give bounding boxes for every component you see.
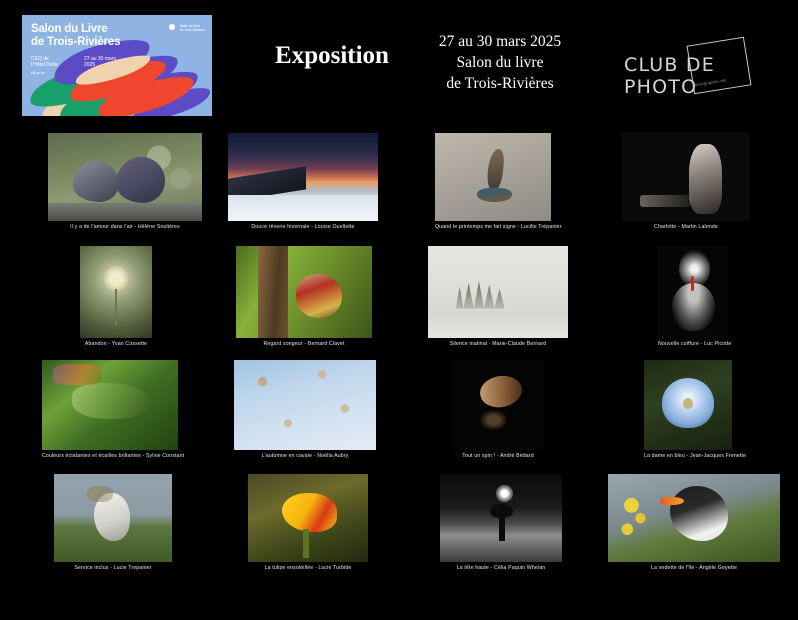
photo-thumbnail[interactable]	[452, 360, 544, 450]
gallery-item[interactable]: Silence matinal - Marie-Claude Bernard	[428, 246, 568, 348]
poster-title: Salon du Livre de Trois-Rivières	[31, 23, 120, 49]
photo-thumbnail[interactable]	[608, 474, 780, 562]
photo-caption: La dame en bleu - Jean-Jacques Frenette	[644, 453, 732, 460]
photo-detail-signature	[640, 195, 691, 207]
photo-caption: Douce rêverie hivernale - Louise Ouellet…	[228, 224, 378, 231]
gallery-item[interactable]: Quand le printemps me fait signe - Lucil…	[435, 133, 551, 231]
photo-caption: Silence matinal - Marie-Claude Bernard	[428, 341, 568, 348]
photo-thumbnail[interactable]	[228, 133, 378, 221]
poster-logo-dot-icon	[169, 24, 175, 30]
gallery-item[interactable]: Nouvelle coiffure - Luc Picotte	[658, 246, 728, 348]
poster-venue: CEQ de l'Hôtel Delta	[31, 56, 58, 68]
gallery-row: Couleurs éclatantes et écailles brillant…	[0, 352, 798, 466]
photo-thumbnail[interactable]	[80, 246, 152, 338]
photo-caption: La tête haute - Célia Paquin Whelan	[440, 565, 562, 572]
poster-dates: 27 au 30 mars 2025	[84, 56, 116, 68]
photo-caption: Charlotte - Martin Lalonde	[622, 224, 750, 231]
photo-detail-beak	[691, 276, 695, 291]
photo-thumbnail[interactable]	[435, 133, 551, 221]
photo-thumbnail[interactable]	[622, 133, 750, 221]
photo-thumbnail[interactable]	[644, 360, 732, 450]
gallery-item[interactable]: Douce rêverie hivernale - Louise Ouellet…	[228, 133, 378, 231]
poster-logo-label: Salon du livre de Trois-Rivières	[180, 24, 205, 32]
gallery-row: Service inclus - Lucie TrepanierLa tulip…	[0, 466, 798, 582]
gallery-item[interactable]: La tête haute - Célia Paquin Whelan	[440, 474, 562, 572]
photo-caption: La tulipe ensoleillée - Lucie Turbide	[248, 565, 368, 572]
photo-thumbnail[interactable]	[54, 474, 172, 562]
gallery-item[interactable]: Tout un spin ! - André Bédard	[452, 360, 544, 460]
gallery-item[interactable]: Il y a de l'amour dans l'air - Hélène So…	[48, 133, 202, 231]
photo-thumbnail[interactable]	[48, 133, 202, 221]
salon-du-livre-poster: Salon du Livre de Trois-Rivières CEQ de …	[22, 15, 212, 116]
gallery-item[interactable]: La tulipe ensoleillée - Lucie Turbide	[248, 474, 368, 572]
club-de-photo-logo: CLUB DE PHOTO photographie.net	[612, 44, 782, 100]
photo-caption: La vedette de l'île - Angèle Goyette	[608, 565, 780, 572]
photo-detail-canopy	[490, 504, 513, 518]
photo-caption: Quand le printemps me fait signe - Lucil…	[435, 224, 551, 231]
gallery-item[interactable]: L'automne en cavale - Noëlla Aubry	[234, 360, 376, 460]
photo-caption: Nouvelle coiffure - Luc Picotte	[658, 341, 728, 348]
photo-caption: Abandon - Yvan Cossette	[80, 341, 152, 348]
photo-caption: Il y a de l'amour dans l'air - Hélène So…	[48, 224, 202, 231]
event-dates: 27 au 30 mars 2025	[400, 31, 600, 52]
gallery-item[interactable]: Abandon - Yvan Cossette	[80, 246, 152, 348]
photo-gallery: Il y a de l'amour dans l'air - Hélène So…	[0, 125, 798, 582]
photo-thumbnail[interactable]	[42, 360, 178, 450]
photo-caption: Regard songeur - Bernard Clavet	[236, 341, 372, 348]
photo-caption: Tout un spin ! - André Bédard	[452, 453, 544, 460]
gallery-item[interactable]: La dame en bleu - Jean-Jacques Frenette	[644, 360, 732, 460]
photo-thumbnail[interactable]	[236, 246, 372, 338]
photo-detail-ledge	[48, 203, 202, 221]
gallery-row: Il y a de l'amour dans l'air - Hélène So…	[0, 125, 798, 238]
gallery-row: Abandon - Yvan CossetteRegard songeur - …	[0, 238, 798, 352]
gallery-item[interactable]: La vedette de l'île - Angèle Goyette	[608, 474, 780, 572]
event-venue-line-2: de Trois-Rivières	[400, 73, 600, 94]
poster-website: sltr.qc.ca	[31, 71, 44, 75]
photo-thumbnail[interactable]	[658, 246, 728, 338]
gallery-item[interactable]: Service inclus - Lucie Trepanier	[54, 474, 172, 572]
photo-thumbnail[interactable]	[248, 474, 368, 562]
photo-detail-flowers	[615, 497, 656, 543]
event-info: 27 au 30 mars 2025 Salon du livre de Tro…	[400, 31, 600, 94]
photo-thumbnail[interactable]	[234, 360, 376, 450]
photo-thumbnail[interactable]	[440, 474, 562, 562]
gallery-item[interactable]: Charlotte - Martin Lalonde	[622, 133, 750, 231]
photo-caption: Couleurs éclatantes et écailles brillant…	[42, 453, 178, 460]
photo-caption: L'automne en cavale - Noëlla Aubry	[234, 453, 376, 460]
gallery-item[interactable]: Couleurs éclatantes et écailles brillant…	[42, 360, 178, 460]
event-venue-line-1: Salon du livre	[400, 52, 600, 73]
page-header: Salon du Livre de Trois-Rivières CEQ de …	[0, 0, 798, 125]
photo-thumbnail[interactable]	[428, 246, 568, 338]
gallery-item[interactable]: Regard songeur - Bernard Clavet	[236, 246, 372, 348]
photo-caption: Service inclus - Lucie Trepanier	[54, 565, 172, 572]
